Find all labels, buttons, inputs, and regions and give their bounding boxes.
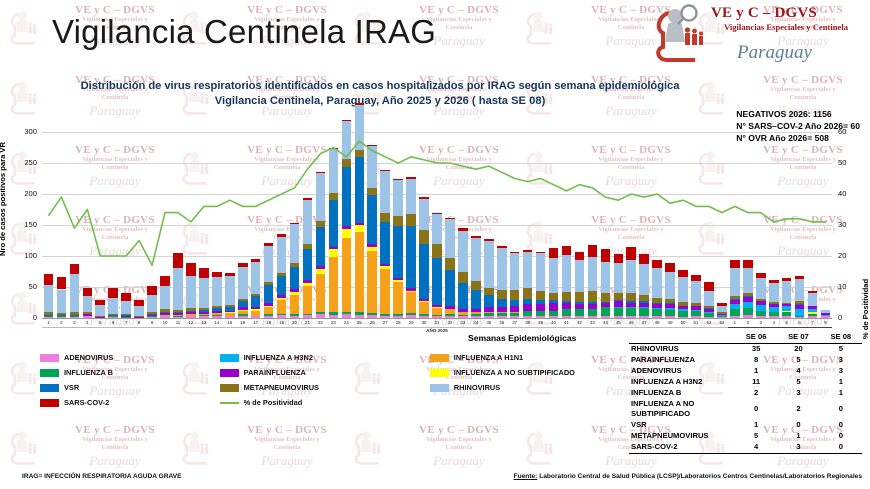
x-tick-label: 1 (42, 320, 55, 325)
table-cell-value: 3 (777, 388, 819, 399)
y-tick-label: 200 (13, 189, 37, 198)
x-tick-label: 14 (210, 320, 223, 325)
table-cell-value: 8 (735, 355, 777, 366)
table-cell-value: 4 (777, 366, 819, 377)
table-cell-value: 0 (820, 420, 862, 431)
chart-subtitle: Distribución de virus respiratorios iden… (0, 80, 760, 107)
legend-color-swatch (430, 369, 449, 377)
table-cell-value: 3 (820, 366, 862, 377)
table-cell-value: 1 (820, 388, 862, 399)
table-cell-value: 0 (820, 442, 862, 453)
legend-color-swatch (40, 369, 59, 377)
x-tick-label: 27 (379, 320, 392, 325)
secondary-y-tick-label: 30 (838, 220, 862, 229)
table-row-virus-name: INFLUENZA B (629, 388, 735, 399)
x-tick-label: 21 (301, 320, 314, 325)
y-tick-label: 100 (13, 251, 37, 260)
watermark-tile: VE y C – DGVSVigilancias Especiales yCen… (212, 424, 362, 469)
legend-color-swatch (220, 354, 239, 362)
chart-subtitle-line2: Vigilancia Centinela, Paraguay, Año 2025… (0, 95, 760, 107)
bar-segment (342, 120, 352, 122)
x-tick-label: 43 (586, 320, 599, 325)
x-tick-label: 32 (443, 320, 456, 325)
legend-label: SARS-COV-2 (64, 398, 109, 407)
x-tick-label: 6 (107, 320, 120, 325)
footer-source: Fuente: Laboratorio Central de Salud Púb… (514, 473, 862, 480)
legend-item: METAPNEUMOVIRUS (220, 382, 430, 393)
table-cell-value: 2 (735, 388, 777, 399)
legend-item: PARAINFLUENZA (220, 367, 430, 378)
legend-item: INFLUENZA A NO SUBTIPIFICADO (430, 367, 640, 378)
summary-stats: NEGATIVOS 2026: 1156 N° SARS–COV-2 Año 2… (736, 108, 860, 145)
y-tick-label: 0 (13, 313, 37, 322)
x-tick-label: 23 (327, 320, 340, 325)
table-row-virus-name: ADENOVIRUS (629, 366, 735, 377)
watermark-mark-icon (6, 422, 50, 472)
legend-item: ADENOVIRUS (40, 352, 220, 363)
legend-line-swatch (220, 399, 239, 407)
table-cell-value: 2 (777, 399, 819, 421)
legend-column-1: ADENOVIRUSINFLUENZA BVSRSARS-COV-2 (40, 352, 220, 408)
table-cell-value: 35 (735, 343, 777, 354)
x-tick-label: 22 (314, 320, 327, 325)
table-head: SE 06SE 07SE 08 (629, 332, 862, 343)
x-tick-label: 47 (638, 320, 651, 325)
y-tick-label: 150 (13, 220, 37, 229)
table-cell-value: 4 (735, 442, 777, 453)
x-tick-label: 45 (612, 320, 625, 325)
x-tick-label: 34 (469, 320, 482, 325)
legend-label: ADENOVIRUS (64, 353, 113, 362)
logo-subtitle: Vigilancias Especiales y Centinela (711, 22, 861, 33)
legend-label: INFLUENZA A H3N2 (244, 353, 313, 362)
table-header-corner (629, 332, 735, 343)
x-tick-label: 37 (508, 320, 521, 325)
table-row-virus-name: RHINOVIRUS (629, 343, 735, 354)
x-tick-label: 29 (405, 320, 418, 325)
x-tick-label: 52 (702, 320, 715, 325)
legend-label: VSR (64, 383, 79, 392)
y-axis-title: Nro de casos positivos para VR (0, 124, 7, 274)
x-tick-label: 50 (677, 320, 690, 325)
table-header-cell: SE 08 (820, 332, 862, 343)
weekly-summary-table: SE 06SE 07SE 08 RHINOVIRUS35205PARAINFLU… (629, 332, 862, 454)
x-axis-line (42, 318, 832, 319)
chart-subtitle-line1: Distribución de virus respiratorios iden… (0, 80, 760, 92)
x-tick-label: 18 (262, 320, 275, 325)
legend-color-swatch (40, 399, 59, 407)
legend-item: VSR (40, 382, 220, 393)
table-row-virus-name: INFLUENZA A NO SUBTIPIFICADO (629, 399, 735, 421)
watermark-mark-icon (350, 422, 394, 472)
legend-label: INFLUENZA A H1N1 (454, 353, 523, 362)
y-tick-label: 300 (13, 127, 37, 136)
table-cell-value: 11 (735, 377, 777, 388)
table-header-cell: SE 06 (735, 332, 777, 343)
x-tick-label: 25 (353, 320, 366, 325)
positivity-line (42, 132, 832, 318)
watermark-tile: VE y C – DGVSVigilancias Especiales yCen… (384, 424, 534, 469)
table-row: VSR100 (629, 420, 862, 431)
secondary-y-tick-label: 40 (838, 189, 862, 198)
table-body: RHINOVIRUS35205PARAINFLUENZA853ADENOVIRU… (629, 343, 862, 453)
x-tick-label: 30 (418, 320, 431, 325)
x-tick-label: 19 (275, 320, 288, 325)
x-tick-label: 4 (81, 320, 94, 325)
x-tick-label: 53 (715, 320, 728, 325)
secondary-y-tick-label: 0 (838, 313, 862, 322)
x-tick-label: 3 (754, 320, 767, 325)
logo-country: Paraguay (737, 42, 812, 64)
legend-color-swatch (430, 354, 449, 362)
x-tick-label: 7 (806, 320, 819, 325)
legend-label: % de Positividad (244, 398, 303, 407)
x-tick-label: 49 (664, 320, 677, 325)
legend-label: INFLUENZA A NO SUBTIPIFICADO (454, 368, 575, 377)
legend-color-swatch (220, 369, 239, 377)
bar-segment (355, 103, 365, 105)
footer-source-text: Laboratorio Central de Salud Pública (LC… (537, 473, 862, 480)
table-cell-value: 0 (735, 399, 777, 421)
x-tick-label: 17 (249, 320, 262, 325)
stacked-bar-chart: Nro de casos positivos para VR % de Posi… (0, 124, 870, 336)
legend-column-2: INFLUENZA A H3N2PARAINFLUENZAMETAPNEUMOV… (220, 352, 430, 408)
table-cell-value: 5 (777, 355, 819, 366)
x-tick-label: 38 (521, 320, 534, 325)
secondary-y-axis-title: % de Positividad (861, 234, 870, 384)
y-tick-label: 250 (13, 158, 37, 167)
table-header-row: SE 06SE 07SE 08 (629, 332, 862, 343)
table-row: METAPNEUMOVIRUS510 (629, 431, 862, 442)
x-tick-label: 7 (120, 320, 133, 325)
x-tick-label: 41 (560, 320, 573, 325)
table-cell-value: 1 (735, 366, 777, 377)
logo-title: VE y C – DGVS (711, 5, 817, 22)
legend-color-swatch (40, 354, 59, 362)
legend-label: INFLUENZA B (64, 368, 113, 377)
x-axis-title: Semanas Epidemiológicas (468, 333, 576, 343)
x-tick-label: 2 (55, 320, 68, 325)
legend-item: INFLUENZA A H1N1 (430, 352, 640, 363)
x-tick-label: 40 (547, 320, 560, 325)
table-cell-value: 0 (820, 399, 862, 421)
x-tick-label: 35 (482, 320, 495, 325)
table-cell-value: 3 (820, 355, 862, 366)
x-tick-label: 46 (625, 320, 638, 325)
positivity-polyline (48, 141, 825, 265)
x-tick-label: 8 (819, 320, 832, 325)
legend-color-swatch (40, 384, 59, 392)
x-tick-label: 12 (184, 320, 197, 325)
secondary-y-tick-label: 50 (838, 158, 862, 167)
table-cell-value: 0 (820, 431, 862, 442)
footer-source-label: Fuente: (514, 473, 538, 480)
stat-ovr: N° OVR Año 2026= 508 (736, 132, 860, 144)
legend-item: % de Positividad (220, 397, 430, 408)
x-tick-label: 6 (793, 320, 806, 325)
legend-column-3: INFLUENZA A H1N1INFLUENZA A NO SUBTIPIFI… (430, 352, 640, 408)
secondary-y-tick-label: 20 (838, 251, 862, 260)
table-header-cell: SE 07 (777, 332, 819, 343)
x-tick-label: 39 (534, 320, 547, 325)
table-cell-value: 20 (777, 343, 819, 354)
legend-label: PARAINFLUENZA (244, 368, 306, 377)
table-row: RHINOVIRUS35205 (629, 343, 862, 354)
stat-sars-cov-2: N° SARS–COV-2 Año 2026= 60 (736, 120, 860, 132)
x-tick-label: 16 (236, 320, 249, 325)
table-cell-value: 3 (777, 442, 819, 453)
x-tick-label: 8 (133, 320, 146, 325)
institution-logo: VE y C – DGVS Vigilancias Especiales y C… (649, 2, 864, 70)
y-tick-label: 50 (13, 282, 37, 291)
legend-item: SARS-COV-2 (40, 397, 220, 408)
x-tick-label: 28 (392, 320, 405, 325)
legend-item: INFLUENZA B (40, 367, 220, 378)
legend-label: METAPNEUMOVIRUS (244, 383, 319, 392)
x-tick-label: 13 (197, 320, 210, 325)
x-tick-label: 5 (94, 320, 107, 325)
x-tick-label: 1 (728, 320, 741, 325)
table-row-virus-name: SARS-COV-2 (629, 442, 735, 453)
secondary-y-tick-label: 10 (838, 282, 862, 291)
table-row: INFLUENZA A NO SUBTIPIFICADO020 (629, 399, 862, 421)
table-row: INFLUENZA B231 (629, 388, 862, 399)
watermark-tile: VE y C – DGVSVigilancias Especiales yCen… (40, 424, 190, 469)
x-tick-label: 44 (599, 320, 612, 325)
table-row: ADENOVIRUS143 (629, 366, 862, 377)
legend-color-swatch (430, 384, 449, 392)
x-tick-label: 24 (340, 320, 353, 325)
table-row-virus-name: VSR (629, 420, 735, 431)
table-row: SARS-COV-2430 (629, 442, 862, 453)
table-cell-value: 5 (777, 377, 819, 388)
watermark-mark-icon (522, 422, 566, 472)
chart-legend: ADENOVIRUSINFLUENZA BVSRSARS-COV-2 INFLU… (40, 352, 640, 408)
x-tick-label: 31 (431, 320, 444, 325)
legend-item: RHINOVIRUS (430, 382, 640, 393)
header-band: Vigilancia Centinela IRAG VE y C – DGVS … (0, 0, 870, 72)
table-cell-value: 1 (820, 377, 862, 388)
legend-item: INFLUENZA A H3N2 (220, 352, 430, 363)
stat-negativos: NEGATIVOS 2026: 1156 (736, 108, 860, 120)
page-title: Vigilancia Centinela IRAG (52, 13, 436, 51)
watermark-mark-icon (178, 422, 222, 472)
x-tick-label: 3 (68, 320, 81, 325)
x-tick-label: 9 (146, 320, 159, 325)
legend-label: RHINOVIRUS (454, 383, 500, 392)
x-tick-label: 2 (741, 320, 754, 325)
x-tick-label: 33 (456, 320, 469, 325)
x-tick-label: 36 (495, 320, 508, 325)
table-cell-value: 0 (777, 420, 819, 431)
x-tick-label: 4 (767, 320, 780, 325)
person-with-magnifier-family-icon (649, 3, 719, 65)
table-row-virus-name: INFLUENZA A H3N2 (629, 377, 735, 388)
table-row: PARAINFLUENZA853 (629, 355, 862, 366)
x-tick-label: 15 (223, 320, 236, 325)
x-tick-label: 51 (690, 320, 703, 325)
x-tick-label: 11 (172, 320, 185, 325)
footer-note: IRAG= INFECCIÓN RESPIRATORIA AGUDA GRAVE (22, 473, 182, 480)
table-cell-value: 1 (735, 420, 777, 431)
x-tick-label: 20 (288, 320, 301, 325)
x-tick-label: 26 (366, 320, 379, 325)
table-row-virus-name: METAPNEUMOVIRUS (629, 431, 735, 442)
x-tick-label: 42 (573, 320, 586, 325)
table-cell-value: 1 (777, 431, 819, 442)
x-tick-label: 48 (651, 320, 664, 325)
x-tick-label: 5 (780, 320, 793, 325)
legend-color-swatch (220, 384, 239, 392)
table-row-virus-name: PARAINFLUENZA (629, 355, 735, 366)
table-cell-value: 5 (735, 431, 777, 442)
table-cell-value: 5 (820, 343, 862, 354)
table-row: INFLUENZA A H3N21151 (629, 377, 862, 388)
x-tick-label: 10 (159, 320, 172, 325)
